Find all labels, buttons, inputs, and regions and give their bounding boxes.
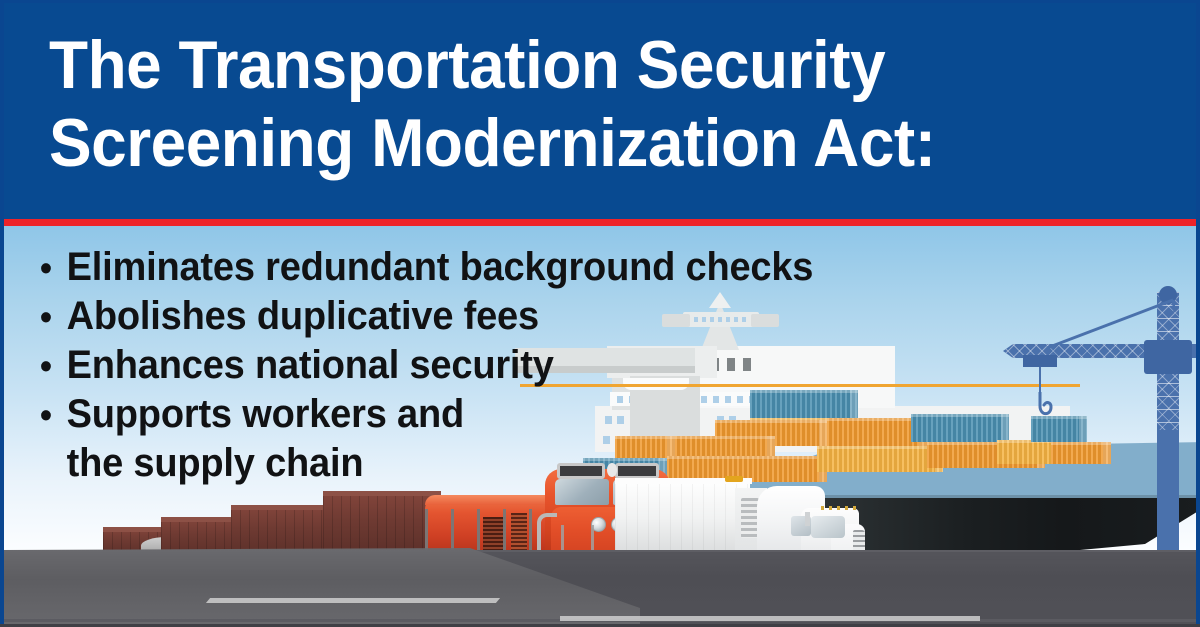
crane-tie-bars	[1045, 298, 1175, 350]
locomotive-hood-roof	[425, 495, 557, 505]
bullet-item: •Eliminates redundant background checks	[40, 243, 813, 292]
bullet-dot-icon: •	[40, 341, 67, 390]
crane-mast-lower	[1157, 430, 1179, 550]
crane-hoist-line	[1039, 367, 1041, 395]
bullet-label: Supports workers and the supply chain	[67, 390, 464, 488]
truck-mirror	[805, 512, 810, 526]
red-divider	[0, 219, 1200, 226]
bullet-dot-icon: •	[40, 390, 67, 439]
bullet-dot-icon: •	[40, 243, 67, 292]
bullet-item: •Supports workers and the supply chain	[40, 390, 813, 488]
bullet-label: Enhances national security	[67, 341, 554, 390]
bullet-label: Eliminates redundant background checks	[67, 243, 814, 292]
crane-trolley	[1023, 355, 1057, 367]
crane-hook-icon	[1029, 392, 1055, 426]
road-marking	[560, 616, 980, 621]
border-left	[0, 0, 4, 627]
bullet-item: •Abolishes duplicative fees	[40, 292, 813, 341]
border-top	[0, 0, 1200, 3]
bullet-label: Abolishes duplicative fees	[67, 292, 539, 341]
truck-windshield	[811, 516, 845, 538]
header-band: The Transportation Security Screening Mo…	[0, 0, 1200, 219]
bullet-dot-icon: •	[40, 292, 67, 341]
border-right	[1196, 0, 1200, 627]
infographic-banner: The Transportation Security Screening Mo…	[0, 0, 1200, 627]
truck-roof-marker-lights	[821, 506, 857, 510]
bullet-item: •Enhances national security	[40, 341, 813, 390]
tower-crane	[985, 282, 1200, 552]
bullet-list: •Eliminates redundant background checks•…	[40, 243, 854, 488]
page-title: The Transportation Security Screening Mo…	[49, 26, 1074, 182]
trailer-box	[615, 480, 750, 556]
road-marking	[206, 598, 500, 603]
